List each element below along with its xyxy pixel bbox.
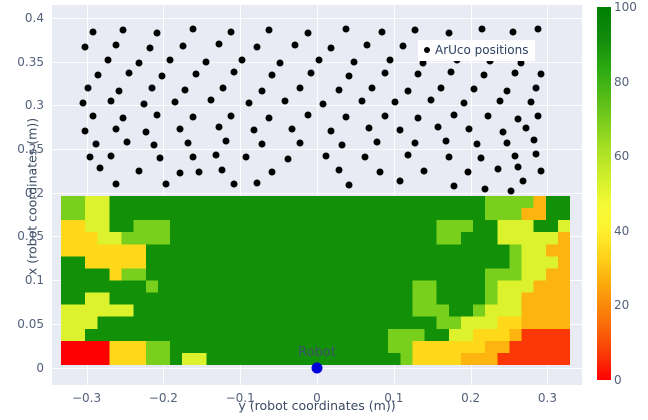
colorbar-gradient — [597, 7, 611, 380]
y-tick-label: 0.1 — [25, 273, 44, 287]
x-tick-label: 0.2 — [461, 391, 480, 405]
y-tick-label: 0.25 — [17, 142, 44, 156]
x-tick-label: 0.1 — [384, 391, 403, 405]
y-tick-label: 0.2 — [25, 186, 44, 200]
y-tick-label: 0.3 — [25, 98, 44, 112]
x-tick-label: −0.3 — [72, 391, 101, 405]
colorbar-tick-label: 0 — [614, 373, 622, 387]
colorbar-tick-label: 60 — [614, 149, 629, 163]
x-tick-label: 0.3 — [538, 391, 557, 405]
y-tick-label: 0 — [36, 361, 44, 375]
colorbar-tick-label: 100 — [614, 0, 637, 14]
colorbar-tick-label: 40 — [614, 224, 629, 238]
heatmap-image — [61, 196, 570, 365]
accuracy-heatmap-figure: Robot ArUco positions y (robot coordinat… — [0, 0, 648, 420]
gridline-horizontal — [52, 105, 582, 106]
colorbar-tick-label: 80 — [614, 75, 629, 89]
y-tick-label: 0.05 — [17, 317, 44, 331]
y-tick-label: 0.35 — [17, 55, 44, 69]
y-tick-label: 0.4 — [25, 11, 44, 25]
colorbar-tick-label: 20 — [614, 298, 629, 312]
gridline-horizontal — [52, 18, 582, 19]
legend: ArUco positions — [418, 40, 535, 61]
gridline-horizontal — [52, 149, 582, 150]
x-tick-label: 0 — [313, 391, 321, 405]
gridline-horizontal — [52, 193, 582, 194]
gridline-horizontal — [52, 368, 582, 369]
heatmap-canvas — [61, 196, 570, 365]
x-tick-label: −0.2 — [149, 391, 178, 405]
gridline-horizontal — [52, 62, 582, 63]
y-tick-label: 0.15 — [17, 229, 44, 243]
x-tick-label: −0.1 — [226, 391, 255, 405]
legend-label: ArUco positions — [435, 43, 528, 57]
aruco-marker-icon — [424, 47, 430, 53]
